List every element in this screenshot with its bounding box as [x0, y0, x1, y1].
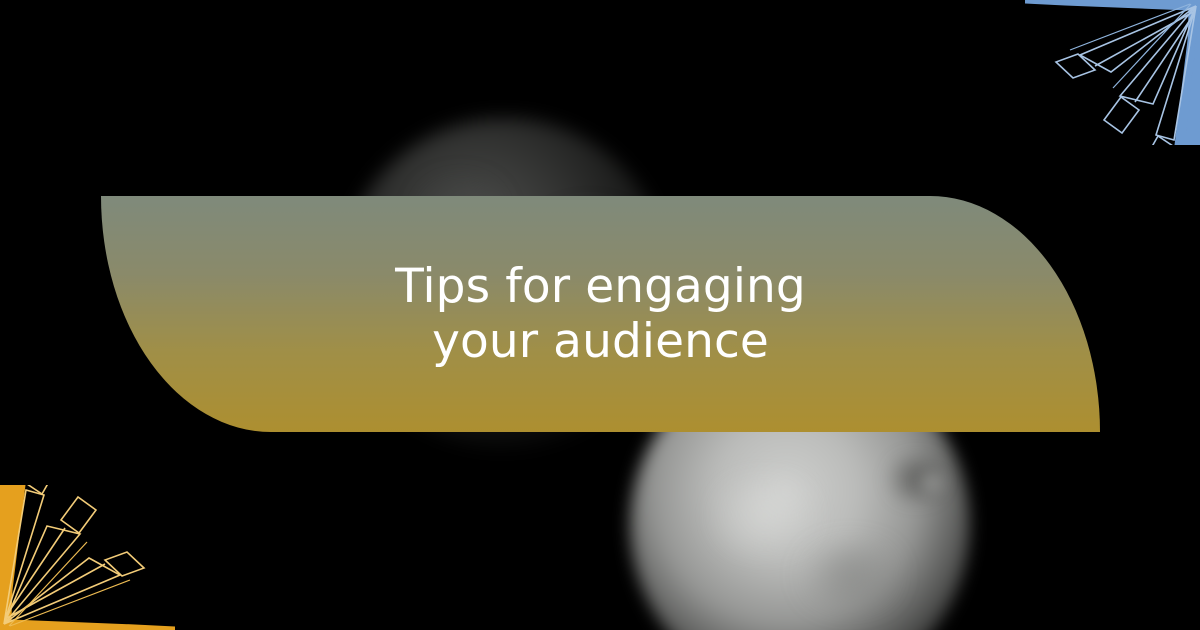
- bright-lower-sphere-crater-b: [912, 470, 952, 496]
- bright-lower-sphere-crater-c: [700, 480, 830, 550]
- title-banner: Tips for engaging your audience: [101, 196, 1100, 432]
- page-title: Tips for engaging your audience: [366, 259, 836, 370]
- corner-ornament-top-right-icon: [1025, 0, 1200, 145]
- bright-lower-sphere-crater-d: [790, 545, 910, 605]
- banner-canvas: Tips for engaging your audience: [0, 0, 1200, 630]
- corner-ornament-bottom-left-icon: [0, 485, 175, 630]
